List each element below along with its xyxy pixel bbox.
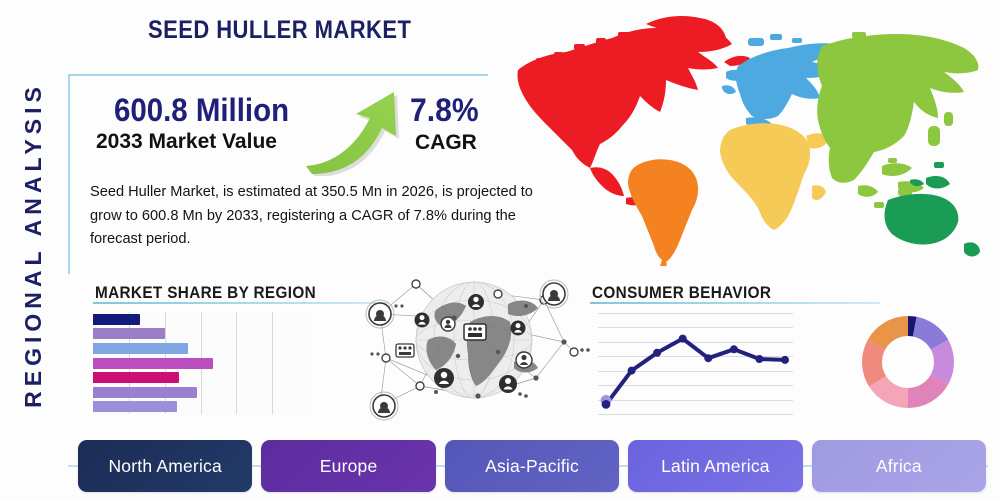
region-button-label: Asia-Pacific bbox=[485, 456, 579, 477]
vertical-page-label: REGIONAL ANALYSIS bbox=[13, 45, 53, 445]
kpi-row: 600.8 Million 2033 Market Value 7.8% CAG… bbox=[88, 92, 508, 172]
region-button-europe[interactable]: Europe bbox=[261, 440, 435, 492]
line-chart-marker bbox=[653, 349, 661, 357]
bar-chart-bar bbox=[93, 401, 177, 412]
bar-chart-bar bbox=[93, 343, 188, 354]
region-button-bar: North AmericaEuropeAsia-PacificLatin Ame… bbox=[78, 440, 986, 492]
map-region-oceania bbox=[885, 162, 980, 257]
line-chart-marker bbox=[755, 355, 763, 363]
map-region-asia bbox=[817, 32, 978, 208]
market-share-bar-chart bbox=[93, 312, 308, 414]
bar-chart-bar bbox=[93, 372, 179, 383]
map-region-africa bbox=[720, 123, 830, 230]
consumer-behavior-rule bbox=[590, 302, 880, 304]
region-button-latin-america[interactable]: Latin America bbox=[628, 440, 802, 492]
region-button-label: Latin America bbox=[661, 456, 770, 477]
bar-chart-bar bbox=[93, 387, 197, 398]
bar-chart-bar bbox=[93, 328, 165, 339]
globe-network-icon bbox=[358, 266, 590, 421]
infographic-root: REGIONAL ANALYSIS SEED HULLER MARKET 600… bbox=[0, 0, 1000, 500]
line-chart-marker bbox=[679, 335, 687, 343]
market-description: Seed Huller Market, is estimated at 350.… bbox=[90, 181, 568, 252]
region-button-africa[interactable]: Africa bbox=[812, 440, 986, 492]
bar-chart-bar bbox=[93, 358, 213, 369]
consumer-behavior-heading: CONSUMER BEHAVIOR bbox=[592, 283, 771, 303]
region-button-label: Europe bbox=[320, 456, 378, 477]
region-button-label: Africa bbox=[876, 456, 922, 477]
segment-donut-chart bbox=[858, 312, 958, 412]
market-value-figure: 600.8 Million bbox=[114, 92, 289, 129]
market-share-rule bbox=[93, 302, 388, 304]
line-chart-marker bbox=[704, 354, 712, 362]
line-chart-marker bbox=[602, 400, 611, 409]
cagr-label: CAGR bbox=[415, 131, 477, 155]
consumer-behavior-line-chart bbox=[598, 311, 793, 416]
line-chart-series bbox=[598, 311, 793, 416]
bar-chart-bar bbox=[93, 314, 140, 325]
world-map-icon bbox=[500, 8, 995, 266]
line-chart-marker bbox=[628, 367, 636, 375]
region-button-asia-pacific[interactable]: Asia-Pacific bbox=[445, 440, 619, 492]
bar-gridline bbox=[236, 312, 237, 414]
region-button-label: North America bbox=[108, 456, 221, 477]
line-chart-marker bbox=[730, 345, 738, 353]
market-value-label: 2033 Market Value bbox=[96, 130, 277, 154]
market-share-heading: MARKET SHARE BY REGION bbox=[95, 283, 316, 303]
growth-arrow-icon bbox=[300, 88, 410, 176]
page-title: SEED HULLER MARKET bbox=[148, 16, 411, 45]
map-region-south-america bbox=[628, 159, 698, 266]
bar-gridline bbox=[272, 312, 273, 414]
cagr-figure: 7.8% bbox=[410, 92, 479, 129]
line-chart-marker bbox=[781, 356, 789, 364]
region-button-north-america[interactable]: North America bbox=[78, 440, 252, 492]
